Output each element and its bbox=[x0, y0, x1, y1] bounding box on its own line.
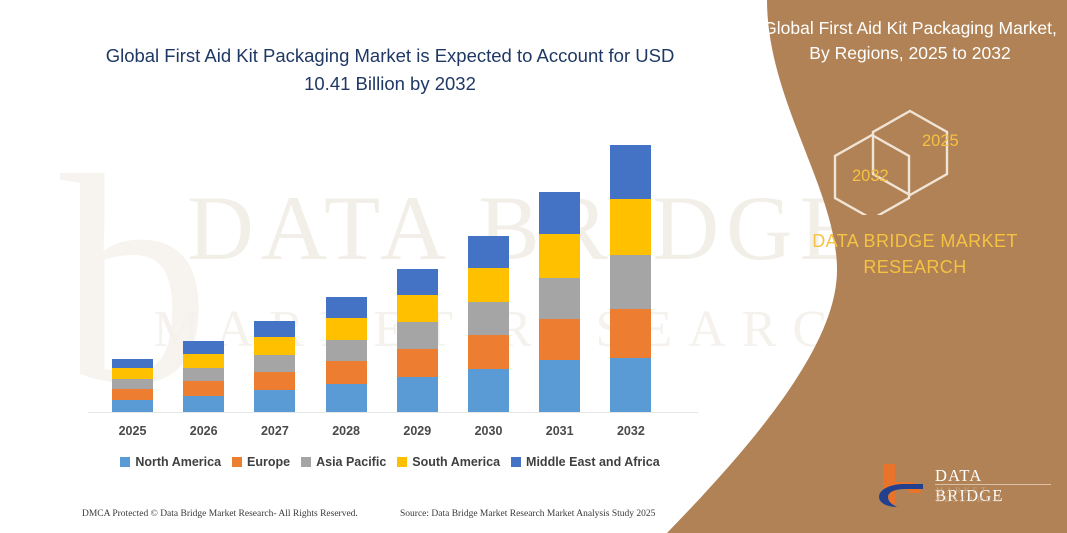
logo-tagline: MARKET RESEARCH bbox=[936, 486, 1055, 504]
x-axis-line bbox=[88, 412, 698, 413]
bar-segment bbox=[468, 268, 509, 302]
bar-segment bbox=[468, 236, 509, 268]
footer-copyright: DMCA Protected © Data Bridge Market Rese… bbox=[82, 509, 358, 519]
bar-segment bbox=[112, 359, 153, 369]
legend-label: North America bbox=[135, 455, 221, 469]
bar-segment bbox=[183, 381, 224, 396]
bar-segment bbox=[468, 302, 509, 335]
bar-column-2031[interactable] bbox=[539, 192, 580, 412]
hex-label-2025: 2025 bbox=[922, 132, 959, 151]
legend-swatch-icon bbox=[120, 457, 130, 467]
bar-segment bbox=[112, 368, 153, 379]
bar-segment bbox=[254, 372, 295, 390]
legend-swatch-icon bbox=[397, 457, 407, 467]
bar-segment bbox=[468, 369, 509, 412]
stacked-bar-chart bbox=[100, 120, 680, 412]
bar-column-2029[interactable] bbox=[397, 269, 438, 412]
bar-column-2026[interactable] bbox=[183, 341, 224, 412]
bar-segment bbox=[326, 297, 367, 318]
bar-segment bbox=[539, 319, 580, 360]
bar-segment bbox=[610, 255, 651, 309]
bar-column-2028[interactable] bbox=[326, 297, 367, 412]
x-axis-labels: 20252026202720282029203020312032 bbox=[100, 424, 680, 444]
hex-label-2032: 2032 bbox=[852, 167, 889, 186]
bar-segment bbox=[183, 396, 224, 412]
bar-segment bbox=[539, 360, 580, 412]
bar-segment bbox=[183, 368, 224, 381]
footer: DMCA Protected © Data Bridge Market Rese… bbox=[0, 505, 700, 527]
bar-segment bbox=[112, 400, 153, 412]
bar-column-2030[interactable] bbox=[468, 236, 509, 412]
hexagon-group: 2025 2032 bbox=[810, 105, 1010, 215]
bar-column-2027[interactable] bbox=[254, 321, 295, 412]
bar-segment bbox=[326, 361, 367, 384]
bar-segment bbox=[539, 278, 580, 319]
right-panel-title: Global First Aid Kit Packaging Market, B… bbox=[760, 16, 1060, 67]
legend-label: Europe bbox=[247, 455, 290, 469]
legend-swatch-icon bbox=[232, 457, 242, 467]
bar-segment bbox=[610, 358, 651, 412]
x-axis-label-2030: 2030 bbox=[468, 424, 509, 438]
chart-legend: North AmericaEuropeAsia PacificSouth Ame… bbox=[100, 455, 680, 469]
bar-column-2025[interactable] bbox=[112, 359, 153, 413]
bar-segment bbox=[112, 389, 153, 400]
footer-source: Source: Data Bridge Market Research Mark… bbox=[400, 509, 655, 519]
x-axis-label-2029: 2029 bbox=[397, 424, 438, 438]
legend-swatch-icon bbox=[511, 457, 521, 467]
legend-label: Asia Pacific bbox=[316, 455, 386, 469]
legend-item[interactable]: North America bbox=[120, 455, 221, 469]
bar-segment bbox=[397, 322, 438, 349]
bar-segment bbox=[539, 192, 580, 234]
hexagon-shapes bbox=[810, 105, 1010, 215]
x-axis-label-2027: 2027 bbox=[254, 424, 295, 438]
bar-segment bbox=[326, 318, 367, 340]
x-axis-label-2025: 2025 bbox=[112, 424, 153, 438]
bar-segment bbox=[254, 321, 295, 337]
bar-segment bbox=[610, 309, 651, 357]
bar-segment bbox=[183, 341, 224, 354]
x-axis-label-2031: 2031 bbox=[539, 424, 580, 438]
bar-segment bbox=[468, 335, 509, 369]
bar-segment bbox=[254, 355, 295, 372]
bar-segment bbox=[610, 145, 651, 199]
bar-segment bbox=[254, 390, 295, 412]
logo-mark-icon bbox=[875, 462, 931, 508]
bar-segment bbox=[610, 199, 651, 255]
bar-segment bbox=[397, 269, 438, 295]
x-axis-label-2026: 2026 bbox=[183, 424, 224, 438]
bar-segment bbox=[397, 349, 438, 377]
legend-item[interactable]: Europe bbox=[232, 455, 290, 469]
bar-segment bbox=[326, 384, 367, 412]
data-bridge-logo: DATA BRIDGE MARKET RESEARCH bbox=[875, 462, 1055, 510]
bar-segment bbox=[183, 354, 224, 368]
x-axis-label-2028: 2028 bbox=[326, 424, 367, 438]
legend-label: South America bbox=[412, 455, 500, 469]
bar-segment bbox=[326, 340, 367, 361]
legend-item[interactable]: South America bbox=[397, 455, 500, 469]
legend-item[interactable]: Asia Pacific bbox=[301, 455, 386, 469]
legend-label: Middle East and Africa bbox=[526, 455, 660, 469]
bar-segment bbox=[254, 337, 295, 355]
legend-swatch-icon bbox=[301, 457, 311, 467]
infographic-root: b DATA BRIDGE MARKET RESEARCH Global Fir… bbox=[0, 0, 1067, 533]
logo-divider bbox=[935, 484, 1051, 485]
bar-segment bbox=[397, 295, 438, 323]
brand-name-text: DATA BRIDGE MARKET RESEARCH bbox=[790, 228, 1040, 280]
bar-segment bbox=[112, 379, 153, 389]
bar-segment bbox=[539, 234, 580, 277]
bar-column-2032[interactable] bbox=[610, 145, 651, 412]
legend-item[interactable]: Middle East and Africa bbox=[511, 455, 660, 469]
page-title: Global First Aid Kit Packaging Market is… bbox=[80, 42, 700, 98]
x-axis-label-2032: 2032 bbox=[610, 424, 651, 438]
bar-segment bbox=[397, 377, 438, 412]
